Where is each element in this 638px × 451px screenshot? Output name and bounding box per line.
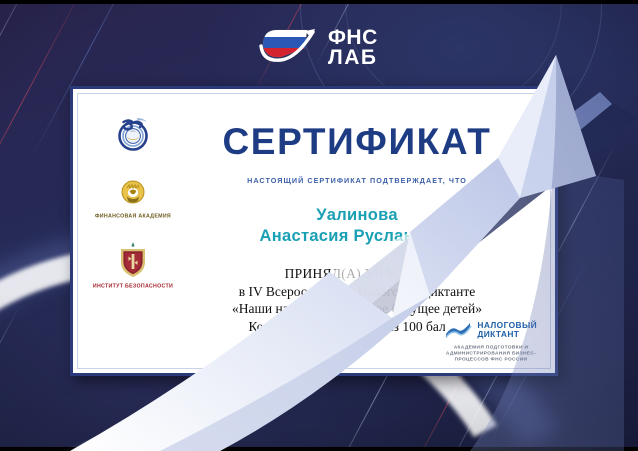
fns-flag-swoosh-icon	[255, 22, 319, 74]
nalogovy-diktant-logo: НАЛОГОВЫЙ ДИКТАНТ АКАДЕМИЯ ПОДГОТОВКИ И …	[445, 321, 537, 357]
emblem-column: ФИНАНСОВАЯ АКАДЕМИЯ ИНСТИТУТ БЕЗОПАСНОСТ…	[97, 111, 169, 288]
certificate-content: СЕРТИФИКАТ НАСТОЯЩИЙ СЕРТИФИКАТ ПОДТВЕРЖ…	[169, 105, 545, 335]
certificate-subtitle: НАСТОЯЩИЙ СЕРТИФИКАТ ПОДТВЕРЖДАЕТ, ЧТО	[169, 176, 545, 185]
certificate-screenshot: ФНС ЛАБ	[0, 0, 638, 451]
nd-logo-row: НАЛОГОВЫЙ ДИКТАНТ	[445, 321, 537, 339]
anniversary-30-ring-emblem-icon	[113, 111, 153, 153]
brand-line-1: ФНС	[328, 28, 378, 48]
body-line-1: ПРИНЯЛ(А) УЧАСТИЕ	[169, 265, 545, 283]
institute-shield-emblem-icon	[116, 241, 150, 281]
certificate-card: ФИНАНСОВАЯ АКАДЕМИЯ ИНСТИТУТ БЕЗОПАСНОСТ…	[70, 86, 558, 376]
body-line-2: в IV Всероссийском Налоговом диктанте	[169, 283, 545, 301]
nd-line-2: ДИКТАНТ	[477, 330, 537, 339]
brand-line-2: ЛАБ	[328, 48, 378, 68]
recipient-name: Уалинова Анастасия Руслановна	[169, 205, 545, 247]
nd-logo-text: НАЛОГОВЫЙ ДИКТАНТ	[477, 321, 537, 339]
recipient-given-name: Анастасия Руслановна	[169, 226, 545, 247]
emblem-caption: ИНСТИТУТ БЕЗОПАСНОСТИ	[90, 283, 177, 290]
brand-text: ФНС ЛАБ	[328, 28, 378, 68]
nalogovy-diktant-wave-icon	[445, 321, 472, 339]
emblem-item	[105, 111, 161, 155]
emblem-caption: ФИНАНСОВАЯ АКАДЕМИЯ	[90, 213, 177, 220]
nd-logo-caption: АКАДЕМИЯ ПОДГОТОВКИ И АДМИНИСТРИРОВАНИЯ …	[439, 344, 544, 363]
body-line-3: «Наши налоги – достойное будущее детей»	[169, 300, 545, 318]
emblem-item: ФИНАНСОВАЯ АКАДЕМИЯ	[105, 179, 161, 217]
emblem-item: ИНСТИТУТ БЕЗОПАСНОСТИ	[105, 241, 161, 287]
brand-logo: ФНС ЛАБ	[255, 22, 378, 74]
certificate-title: СЕРТИФИКАТ	[169, 121, 545, 163]
recipient-surname: Уалинова	[169, 205, 545, 226]
financial-academy-crest-icon	[114, 179, 152, 211]
